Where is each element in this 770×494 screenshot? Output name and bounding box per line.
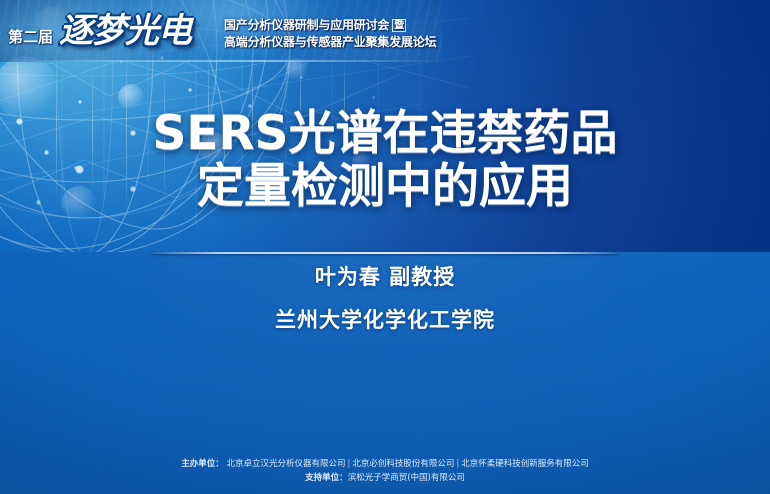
supporter-name-1: 滨松光子学商贸(中国)有限公司 xyxy=(348,473,465,483)
footer-separator: | xyxy=(454,459,461,469)
event-subtitle: 国产分析仪器研制与应用研讨会暨 高端分析仪器与传感器产业聚集发展论坛 xyxy=(224,18,436,49)
sponsor-footer: 主办单位： 北京卓立汉光分析仪器有限公司|北京必创科技股份有限公司|北京怀柔硬科… xyxy=(0,457,770,486)
title-divider xyxy=(152,252,618,254)
event-subtitle-line-2: 高端分析仪器与传感器产业聚集发展论坛 xyxy=(224,35,436,49)
organizer-name-1: 北京卓立汉光分析仪器有限公司 xyxy=(226,459,345,469)
event-name-logo: 逐梦光电 xyxy=(59,14,191,48)
event-subtitle-text-1: 国产分析仪器研制与应用研讨会 xyxy=(224,18,389,32)
presentation-slide: 第二届 逐梦光电 国产分析仪器研制与应用研讨会暨 高端分析仪器与传感器产业聚集发… xyxy=(0,0,770,494)
header-banner-underline xyxy=(0,60,442,62)
organizer-name-2: 北京必创科技股份有限公司 xyxy=(352,459,454,469)
organizer-name-3: 北京怀柔硬科技创新服务有限公司 xyxy=(461,459,589,469)
conjunction-badge: 暨 xyxy=(392,19,406,32)
speaker-info: 叶为春 副教授 兰州大学化学化工学院 xyxy=(0,262,770,336)
speaker-affiliation: 兰州大学化学化工学院 xyxy=(0,305,770,337)
speaker-name: 叶为春 副教授 xyxy=(0,262,770,294)
event-edition-label: 第二届 xyxy=(8,30,53,48)
event-logo: 第二届 逐梦光电 xyxy=(8,14,191,48)
slide-background-vignette xyxy=(0,0,770,494)
organizers-label: 主办单位： xyxy=(181,459,224,469)
slide-title-line-1: SERS光谱在违禁药品 xyxy=(0,108,770,161)
supporters-line: 支持单位：滨松光子学商贸(中国)有限公司 xyxy=(0,471,770,486)
slide-title-line-2: 定量检测中的应用 xyxy=(0,161,770,214)
event-subtitle-line-1: 国产分析仪器研制与应用研讨会暨 xyxy=(224,18,436,32)
slide-title: SERS光谱在违禁药品 定量检测中的应用 xyxy=(0,108,770,213)
supporters-label: 支持单位： xyxy=(305,473,348,483)
footer-separator: | xyxy=(345,459,352,469)
organizers-line: 主办单位： 北京卓立汉光分析仪器有限公司|北京必创科技股份有限公司|北京怀柔硬科… xyxy=(0,457,770,472)
